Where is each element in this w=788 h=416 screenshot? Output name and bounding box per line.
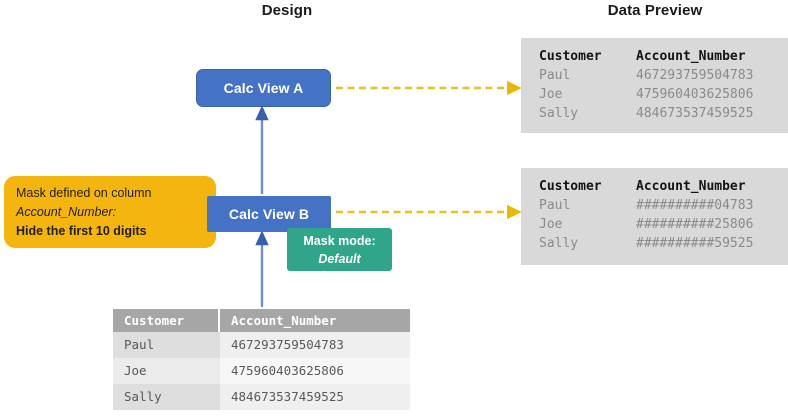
preview-cell-customer: Sally [539, 234, 636, 253]
preview-header-account: Account_Number [636, 177, 746, 196]
table-row: Paul 467293759504783 [113, 332, 410, 358]
preview-cell-account-masked: ##########59525 [636, 234, 753, 253]
preview-cell-account: 484673537459525 [636, 104, 753, 123]
preview-cell-customer: Paul [539, 66, 636, 85]
preview-row: Paul ##########04783 [539, 196, 788, 215]
node-calc-view-b[interactable]: Calc View B [207, 196, 331, 232]
mask-mode-label: Mask mode: [287, 232, 392, 250]
data-preview-panel-masked: Customer Account_Number Paul ##########0… [521, 168, 788, 265]
preview-cell-account: 475960403625806 [636, 85, 753, 104]
table-cell-account: 484673537459525 [220, 384, 410, 410]
mask-callout-line-1: Mask defined on column [16, 184, 204, 203]
table-header-account: Account_Number [220, 309, 410, 332]
preview-cell-account: 467293759504783 [636, 66, 753, 85]
preview-header-customer: Customer [539, 177, 636, 196]
table-cell-account: 467293759504783 [220, 332, 410, 358]
table-row: Sally 484673537459525 [113, 384, 410, 410]
mask-mode-value: Default [287, 250, 392, 268]
preview-cell-customer: Paul [539, 196, 636, 215]
table-header-customer: Customer [113, 309, 220, 332]
preview-cell-customer: Joe [539, 215, 636, 234]
mask-callout-rule: Hide the first 10 digits [16, 222, 204, 241]
preview-cell-customer: Sally [539, 104, 636, 123]
column-title-design: Design [232, 2, 342, 19]
preview-header-row: Customer Account_Number [539, 177, 788, 196]
preview-row: Sally ##########59525 [539, 234, 788, 253]
data-preview-panel-unmasked: Customer Account_Number Paul 46729375950… [521, 38, 788, 133]
table-row: Joe 475960403625806 [113, 358, 410, 384]
node-calc-view-b-label: Calc View B [229, 206, 309, 222]
preview-row: Joe ##########25806 [539, 215, 788, 234]
preview-header-account: Account_Number [636, 47, 746, 66]
preview-row: Paul 467293759504783 [539, 66, 788, 85]
mask-definition-callout: Mask defined on column Account_Number: H… [4, 176, 216, 248]
preview-header-row: Customer Account_Number [539, 47, 788, 66]
preview-cell-account-masked: ##########25806 [636, 215, 753, 234]
table-cell-customer: Paul [113, 332, 220, 358]
table-cell-account: 475960403625806 [220, 358, 410, 384]
preview-cell-customer: Joe [539, 85, 636, 104]
node-calc-view-a[interactable]: Calc View A [196, 69, 331, 107]
mask-callout-column-name: Account_Number: [16, 203, 204, 222]
table-cell-customer: Sally [113, 384, 220, 410]
table-header-row: Customer Account_Number [113, 309, 410, 332]
mask-mode-callout: Mask mode: Default [287, 228, 392, 271]
diagram-canvas: Design Data Preview Calc View A Mask def… [0, 0, 788, 416]
source-data-table: Customer Account_Number Paul 46729375950… [113, 309, 410, 412]
node-calc-view-a-label: Calc View A [224, 80, 304, 96]
preview-cell-account-masked: ##########04783 [636, 196, 753, 215]
table-cell-customer: Joe [113, 358, 220, 384]
column-title-data-preview: Data Preview [580, 2, 730, 19]
preview-header-customer: Customer [539, 47, 636, 66]
preview-row: Joe 475960403625806 [539, 85, 788, 104]
preview-row: Sally 484673537459525 [539, 104, 788, 123]
